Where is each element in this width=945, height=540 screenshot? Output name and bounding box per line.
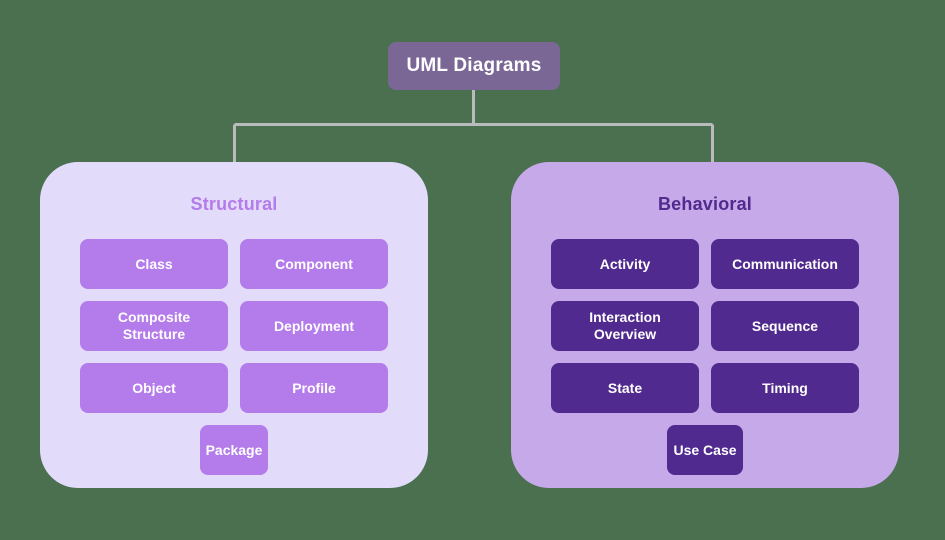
diagram-chip-interaction-overview[interactable]: Interaction Overview: [551, 301, 699, 351]
diagram-chip-label: Object: [132, 380, 176, 397]
diagram-chip-label: State: [608, 380, 642, 397]
category-title-structural: Structural: [80, 194, 388, 215]
diagram-chip-label: Timing: [762, 380, 808, 397]
diagram-chip-package[interactable]: Package: [200, 425, 269, 475]
diagram-chip-timing[interactable]: Timing: [711, 363, 859, 413]
diagram-chip-label: Deployment: [274, 318, 354, 335]
diagram-chip-composite-structure[interactable]: Composite Structure: [80, 301, 228, 351]
diagram-chip-profile[interactable]: Profile: [240, 363, 388, 413]
diagram-chip-sequence[interactable]: Sequence: [711, 301, 859, 351]
diagram-chip-component[interactable]: Component: [240, 239, 388, 289]
chip-grid-structural: Class Component Composite Structure Depl…: [80, 239, 388, 475]
root-node-uml-diagrams[interactable]: UML Diagrams: [388, 42, 560, 90]
diagram-chip-label: Use Case: [673, 442, 736, 459]
diagram-chip-label: Sequence: [752, 318, 818, 335]
category-panel-structural[interactable]: Structural Class Component Composite Str…: [40, 162, 428, 488]
tree-connector-path: [235, 90, 713, 162]
diagram-chip-label: Interaction Overview: [589, 309, 661, 343]
diagram-chip-label: Package: [206, 442, 263, 459]
diagram-chip-class[interactable]: Class: [80, 239, 228, 289]
diagram-chip-label: Class: [135, 256, 172, 273]
uml-diagram-canvas: UML Diagrams Structural Class Component …: [0, 0, 945, 540]
diagram-chip-communication[interactable]: Communication: [711, 239, 859, 289]
diagram-chip-object[interactable]: Object: [80, 363, 228, 413]
diagram-chip-label: Communication: [732, 256, 838, 273]
category-panel-behavioral[interactable]: Behavioral Activity Communication Intera…: [511, 162, 899, 488]
diagram-chip-label: Activity: [600, 256, 651, 273]
root-node-label: UML Diagrams: [406, 55, 541, 77]
diagram-chip-label: Component: [275, 256, 353, 273]
diagram-chip-activity[interactable]: Activity: [551, 239, 699, 289]
category-title-behavioral: Behavioral: [551, 194, 859, 215]
diagram-chip-deployment[interactable]: Deployment: [240, 301, 388, 351]
chip-grid-behavioral: Activity Communication Interaction Overv…: [551, 239, 859, 475]
diagram-chip-label: Composite Structure: [118, 309, 190, 343]
diagram-chip-use-case[interactable]: Use Case: [667, 425, 742, 475]
diagram-chip-state[interactable]: State: [551, 363, 699, 413]
diagram-chip-label: Profile: [292, 380, 336, 397]
